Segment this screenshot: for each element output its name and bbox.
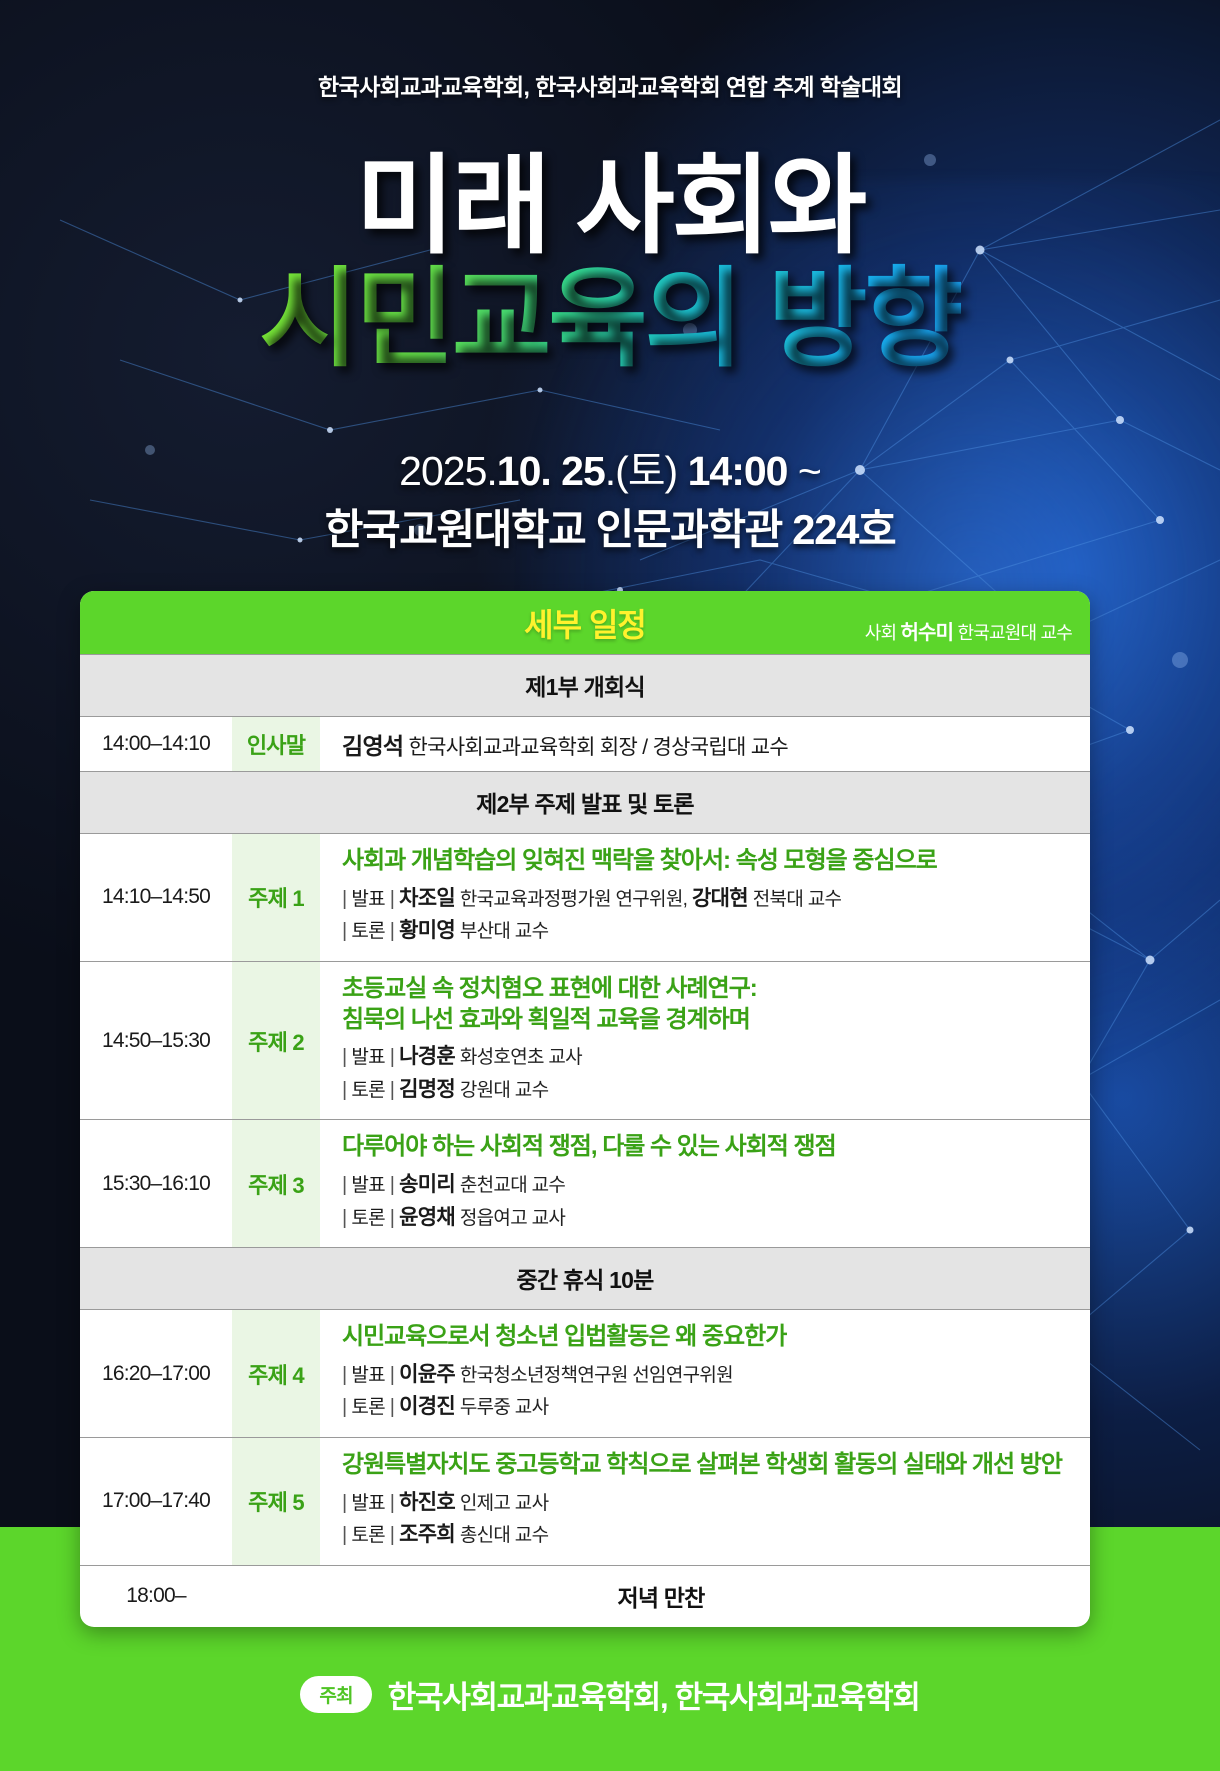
discussant-name: 황미영: [399, 919, 455, 942]
session-title: 다루어야 하는 사회적 쟁점, 다룰 수 있는 사회적 쟁점: [342, 1132, 1074, 1163]
event-time: 14:00: [688, 448, 788, 494]
session-body: 사회과 개념학습의 잊혀진 맥락을 찾아서: 속성 모형을 중심으로 | 발표 …: [320, 834, 1090, 962]
presenter-label: 발표: [351, 1493, 385, 1514]
presenter-name: 하진호: [399, 1491, 455, 1514]
presenter-label: 발표: [351, 1047, 385, 1068]
schedule-header: 세부 일정 사회 허수미 한국교원대 교수: [80, 591, 1090, 654]
discussant-label: 토론: [351, 1080, 385, 1101]
moderator-name: 허수미: [900, 622, 953, 644]
discussant-affiliation: 총신대 교수: [460, 1525, 548, 1546]
presenter-name: 나경훈: [399, 1045, 455, 1068]
session-title: 사회과 개념학습의 잊혀진 맥락을 찾아서: 속성 모형을 중심으로: [342, 846, 1074, 877]
host-footer: 주최 한국사회교과교육학회, 한국사회과교육학회: [0, 1672, 1220, 1717]
discussant-name: 김명정: [399, 1078, 455, 1101]
title-line-1: 미래 사회와: [0, 150, 1220, 261]
moderator-affiliation: 한국교원대 교수: [957, 623, 1072, 643]
session-tag: 주제 4: [232, 1310, 320, 1438]
discussant-name: 조주희: [399, 1523, 455, 1546]
session-presenter: | 발표 | 송미리 춘천교대 교수: [342, 1169, 1074, 1202]
discussant-label: 토론: [351, 1208, 385, 1229]
presenter-affiliation-2: 전북대 교수: [753, 889, 841, 910]
host-label-badge: 주최: [300, 1676, 371, 1713]
schedule-card: 세부 일정 사회 허수미 한국교원대 교수 제1부 개회식 14:00–14:1…: [80, 591, 1090, 1627]
title-line-2-part-b: 방향: [768, 258, 961, 379]
presenter-label: 발표: [351, 889, 385, 910]
moderator-label: 사회: [865, 623, 897, 643]
table-row-session: 16:20–17:00 주제 4 시민교육으로서 청소년 입법활동은 왜 중요한…: [80, 1310, 1090, 1438]
discussant-affiliation: 두루중 교사: [460, 1397, 548, 1418]
session-discussant: | 토론 | 윤영채 정읍여고 교사: [342, 1202, 1074, 1235]
section-band-part2: 제2부 주제 발표 및 토론: [80, 772, 1090, 834]
session-presenter: | 발표 | 하진호 인제고 교사: [342, 1487, 1074, 1520]
schedule-title: 세부 일정: [524, 600, 646, 646]
title-line-2-part-a: 시민교육의: [259, 258, 741, 379]
session-body: 초등교실 속 정치혐오 표현에 대한 사례연구: 침묵의 나선 효과와 획일적 …: [320, 961, 1090, 1120]
presenter-affiliation: 한국청소년정책연구원 선임연구위원: [460, 1365, 733, 1386]
host-organizations: 한국사회교과교육학회, 한국사회과교육학회: [388, 1672, 920, 1717]
discussant-label: 토론: [351, 1397, 385, 1418]
session-time: 17:00–17:40: [80, 1437, 232, 1565]
table-row-session: 15:30–16:10 주제 3 다루어야 하는 사회적 쟁점, 다룰 수 있는…: [80, 1120, 1090, 1248]
greeting-affiliation: 한국사회교과교육학회 회장 / 경상국립대 교수: [409, 736, 788, 759]
discussant-name: 윤영채: [399, 1206, 455, 1229]
session-body: 다루어야 하는 사회적 쟁점, 다룰 수 있는 사회적 쟁점 | 발표 | 송미…: [320, 1120, 1090, 1248]
session-time: 14:10–14:50: [80, 834, 232, 962]
session-presenter: | 발표 | 이윤주 한국청소년정책연구원 선임연구위원: [342, 1359, 1074, 1392]
session-title: 강원특별자치도 중고등학교 학칙으로 살펴본 학생회 활동의 실태와 개선 방안: [342, 1450, 1074, 1481]
section-band-part1: 제1부 개회식: [80, 655, 1090, 717]
date-day: 10. 25: [497, 448, 605, 494]
table-row-greeting: 14:00–14:10 인사말 김영석 한국사회교과교육학회 회장 / 경상국립…: [80, 717, 1090, 772]
discussant-affiliation: 부산대 교수: [460, 921, 548, 942]
presenter-name-2: 강대현: [692, 887, 748, 910]
section-band-label: 중간 휴식 10분: [80, 1248, 1090, 1310]
dinner-time: 18:00–: [80, 1565, 232, 1627]
event-eyebrow: 한국사회교과교육학회, 한국사회과교육학회 연합 추계 학술대회: [0, 68, 1220, 102]
session-title: 초등교실 속 정치혐오 표현에 대한 사례연구: 침묵의 나선 효과와 획일적 …: [342, 974, 1074, 1035]
date-suffix: ~: [787, 448, 820, 494]
presenter-name: 송미리: [399, 1173, 455, 1196]
session-discussant: | 토론 | 김명정 강원대 교수: [342, 1074, 1074, 1107]
presenter-affiliation: 춘천교대 교수: [460, 1175, 565, 1196]
session-tag: 주제 5: [232, 1437, 320, 1565]
conference-poster: 한국사회교과교육학회, 한국사회과교육학회 연합 추계 학술대회 미래 사회와 …: [0, 0, 1220, 1771]
session-body: 시민교육으로서 청소년 입법활동은 왜 중요한가 | 발표 | 이윤주 한국청소…: [320, 1310, 1090, 1438]
discussant-label: 토론: [351, 1525, 385, 1546]
date-weekday: .(토): [605, 448, 688, 494]
discussant-label: 토론: [351, 921, 385, 942]
discussant-name: 이경진: [399, 1395, 455, 1418]
presenter-affiliation: 인제고 교사: [460, 1493, 548, 1514]
section-band-label: 제2부 주제 발표 및 토론: [80, 772, 1090, 834]
greeting-time: 14:00–14:10: [80, 717, 232, 772]
event-datetime: 2025.10. 25.(토) 14:00 ~: [0, 437, 1220, 497]
date-prefix: 2025.: [399, 448, 497, 494]
schedule-table: 제1부 개회식 14:00–14:10 인사말 김영석 한국사회교과교육학회 회…: [80, 654, 1090, 1627]
session-title-line-1: 초등교실 속 정치혐오 표현에 대한 사례연구:: [342, 974, 1074, 1005]
event-venue: 한국교원대학교 인문과학관 224호: [0, 496, 1220, 557]
session-discussant: | 토론 | 황미영 부산대 교수: [342, 915, 1074, 948]
session-discussant: | 토론 | 조주희 총신대 교수: [342, 1519, 1074, 1552]
presenter-affiliation: 화성호연초 교사: [460, 1047, 582, 1068]
section-band-label: 제1부 개회식: [80, 655, 1090, 717]
session-time: 15:30–16:10: [80, 1120, 232, 1248]
section-band-break: 중간 휴식 10분: [80, 1248, 1090, 1310]
discussant-affiliation: 강원대 교수: [460, 1080, 548, 1101]
poster-title: 미래 사회와 시민교육의 방향: [0, 150, 1220, 374]
presenter-name: 차조일: [399, 887, 455, 910]
greeting-tag: 인사말: [232, 717, 320, 772]
presenter-name: 이윤주: [399, 1363, 455, 1386]
session-tag: 주제 2: [232, 961, 320, 1120]
presenter-label: 발표: [351, 1365, 385, 1386]
session-presenter: | 발표 | 나경훈 화성호연초 교사: [342, 1041, 1074, 1074]
table-row-session: 14:10–14:50 주제 1 사회과 개념학습의 잊혀진 맥락을 찾아서: …: [80, 834, 1090, 962]
greeting-body: 김영석 한국사회교과교육학회 회장 / 경상국립대 교수: [320, 717, 1090, 772]
table-row-session: 17:00–17:40 주제 5 강원특별자치도 중고등학교 학칙으로 살펴본 …: [80, 1437, 1090, 1565]
session-time: 16:20–17:00: [80, 1310, 232, 1438]
title-line-2: 시민교육의 방향: [0, 263, 1220, 374]
session-time: 14:50–15:30: [80, 961, 232, 1120]
session-presenter: | 발표 | 차조일 한국교육과정평가원 연구위원, 강대현 전북대 교수: [342, 883, 1074, 916]
session-tag: 주제 1: [232, 834, 320, 962]
session-body: 강원특별자치도 중고등학교 학칙으로 살펴본 학생회 활동의 실태와 개선 방안…: [320, 1437, 1090, 1565]
presenter-affiliation: 한국교육과정평가원 연구위원,: [460, 889, 687, 910]
discussant-affiliation: 정읍여고 교사: [460, 1208, 565, 1229]
presenter-label: 발표: [351, 1175, 385, 1196]
moderator-info: 사회 허수미 한국교원대 교수: [865, 616, 1072, 645]
session-title-line-2: 침묵의 나선 효과와 획일적 교육을 경계하며: [342, 1005, 1074, 1036]
table-row-dinner: 18:00– 저녁 만찬: [80, 1565, 1090, 1627]
session-discussant: | 토론 | 이경진 두루중 교사: [342, 1391, 1074, 1424]
session-tag: 주제 3: [232, 1120, 320, 1248]
dinner-label: 저녁 만찬: [232, 1565, 1090, 1627]
session-title: 시민교육으로서 청소년 입법활동은 왜 중요한가: [342, 1322, 1074, 1353]
table-row-session: 14:50–15:30 주제 2 초등교실 속 정치혐오 표현에 대한 사례연구…: [80, 961, 1090, 1120]
greeting-name: 김영석: [342, 733, 403, 759]
